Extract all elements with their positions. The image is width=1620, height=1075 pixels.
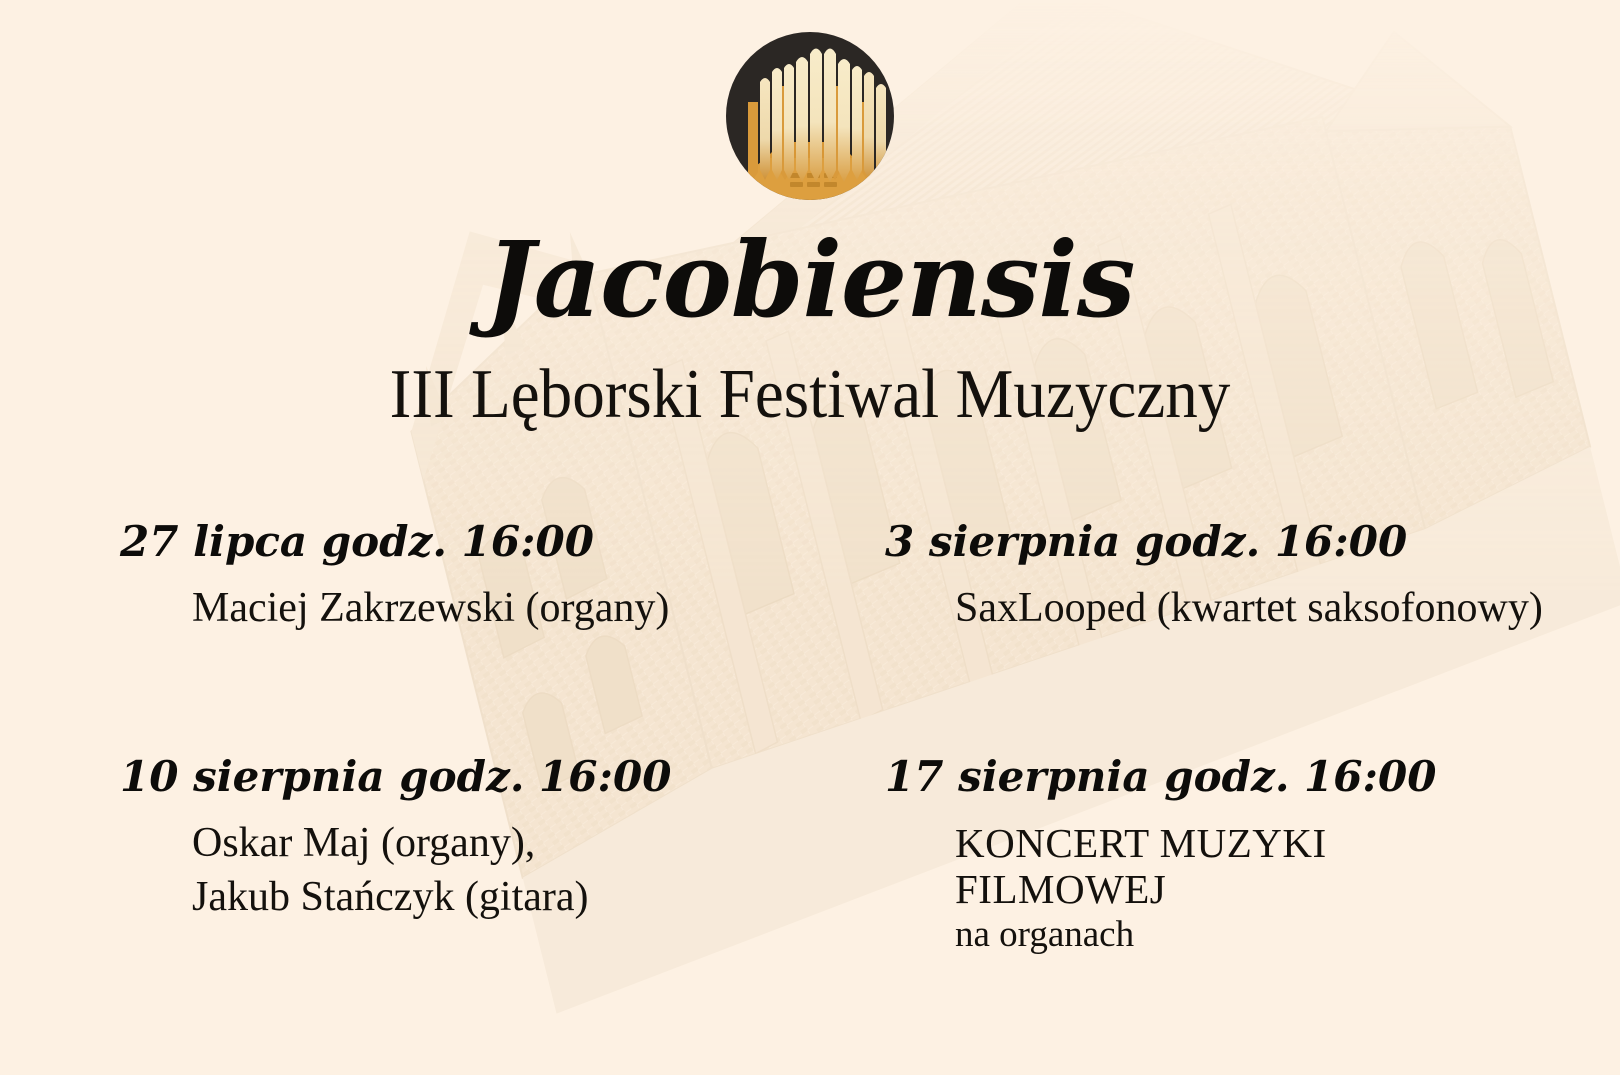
performer-line: Jakub Stańczyk (gitara)	[192, 871, 810, 925]
concert-performers: Oskar Maj (organy), Jakub Stańczyk (gita…	[120, 817, 810, 925]
concert-entry: 3 sierpnia godz. 16:00 SaxLooped (kwarte…	[810, 520, 1520, 755]
program-line: KONCERT MUZYKI	[955, 821, 1520, 867]
concert-performers: KONCERT MUZYKI FILMOWEJ na organach	[810, 821, 1520, 957]
concert-entry: 17 sierpnia godz. 16:00 KONCERT MUZYKI F…	[810, 755, 1520, 957]
performer-line: Oskar Maj (organy),	[192, 817, 810, 871]
concert-schedule: 27 lipca godz. 16:00 Maciej Zakrzewski (…	[120, 520, 1520, 957]
page-subtitle: III Lęborski Festiwal Muzyczny	[57, 360, 1564, 430]
performer-line: Maciej Zakrzewski (organy)	[192, 582, 810, 636]
concert-entry: 27 lipca godz. 16:00 Maciej Zakrzewski (…	[120, 520, 810, 755]
festival-poster: Jacobiensis III Lęborski Festiwal Muzycz…	[0, 0, 1620, 1075]
concert-date: 3 sierpnia godz. 16:00	[810, 520, 1520, 564]
program-line: FILMOWEJ	[955, 867, 1520, 913]
concert-date: 10 sierpnia godz. 16:00	[120, 755, 810, 799]
concert-date: 27 lipca godz. 16:00	[120, 520, 810, 564]
concert-entry: 10 sierpnia godz. 16:00 Oskar Maj (organ…	[120, 755, 810, 957]
program-line: na organach	[955, 913, 1520, 957]
concert-performers: SaxLooped (kwartet saksofonowy)	[810, 582, 1520, 636]
performer-line: SaxLooped (kwartet saksofonowy)	[955, 582, 1520, 636]
page-title: Jacobiensis	[0, 228, 1620, 332]
organ-pipes-icon	[724, 30, 896, 202]
festival-logo	[724, 30, 896, 202]
concert-date: 17 sierpnia godz. 16:00	[810, 755, 1520, 799]
concert-performers: Maciej Zakrzewski (organy)	[120, 582, 810, 636]
